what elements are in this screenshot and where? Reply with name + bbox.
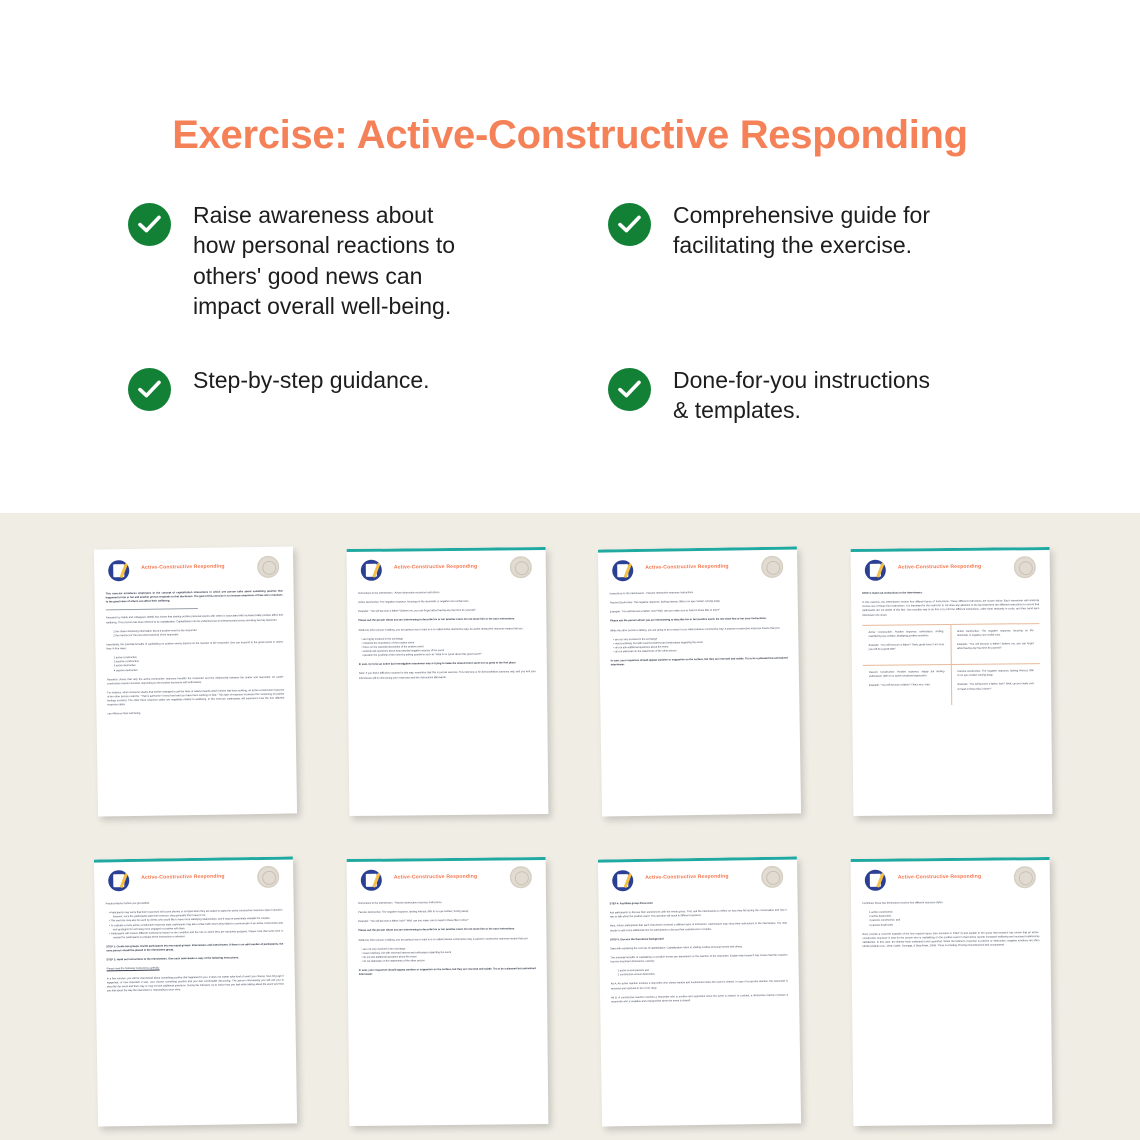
document-pencil-icon	[108, 560, 129, 581]
document-accent-bar	[851, 857, 1050, 862]
certification-seal-icon	[257, 866, 279, 888]
response-style-cell: Active Constructive: Positive response, …	[862, 625, 951, 666]
divider	[106, 608, 198, 610]
document-accent-bar	[598, 546, 797, 552]
document-brand-title: Active-Constructive Responding	[394, 874, 478, 881]
document-paragraph: STEP 3: Hand out instructions to the int…	[862, 590, 1039, 596]
response-style-example: Example: "You will become a father? Beli…	[957, 642, 1034, 651]
document-paragraph: Example: "You will become a father, huh?…	[358, 918, 535, 924]
benefit-item-comprehensive-guide: Comprehensive guide for facilitating the…	[608, 200, 1038, 365]
document-body: STEP 3: Hand out instructions to the int…	[862, 590, 1040, 705]
document-thumbnail[interactable]: Active-Constructive RespondingSTEP 4: Fa…	[598, 856, 801, 1126]
document-paragraph: Instructions to the interviewers - Passi…	[358, 900, 535, 906]
document-paragraph: Active Destructive: The negative respons…	[358, 599, 535, 605]
benefit-label: Raise awareness about how personal react…	[193, 200, 455, 321]
certification-seal-icon	[1014, 866, 1036, 888]
document-paragraph: Example: "You will become a father? Beli…	[358, 608, 535, 614]
document-pencil-icon	[108, 870, 129, 891]
document-paragraph: Importantly, the potential benefits of c…	[106, 640, 283, 651]
document-paragraph: This exercise introduces employees to th…	[106, 590, 283, 605]
document-pencil-icon	[612, 870, 633, 891]
response-style-definition: Passive Constructive: Positive response,…	[869, 670, 945, 679]
document-page-content: Active-Constructive RespondingCombined, …	[862, 866, 1042, 1120]
document-accent-bar	[347, 857, 546, 862]
hero-section: Exercise: Active-Constructive Responding…	[0, 0, 1140, 513]
document-bullet-list: are not very involved in the exchangerea…	[359, 946, 536, 964]
document-paragraph: Practical Advice before you get started:	[106, 900, 283, 907]
document-bullet-list: Participants may worry that their respon…	[106, 909, 283, 941]
certification-seal-icon	[510, 866, 532, 888]
document-body: Instructions to the interviewers - Passi…	[610, 590, 788, 668]
certification-seal-icon	[257, 556, 279, 578]
document-brand-title: Active-Constructive Responding	[645, 874, 729, 881]
benefit-label: Done-for-you instructions & templates.	[673, 365, 930, 426]
document-pencil-icon	[361, 870, 382, 891]
document-brand-title: Active-Constructive Responding	[898, 564, 982, 571]
document-brand-title: Active-Constructive Responding	[141, 874, 225, 881]
document-paragraph: Instructions to the interviewers - Passi…	[610, 590, 787, 597]
document-paragraph: Please ask the person whom you are inter…	[358, 927, 535, 933]
response-style-example: Example: "You will become a father? That…	[869, 643, 945, 652]
document-numbered-list: 1 active versus passive and2 constructiv…	[611, 967, 788, 978]
document-paragraph: Instructions to the interviewers - Activ…	[358, 590, 535, 596]
document-paragraph: STEP 1: Create two groups. Divide partic…	[106, 943, 283, 954]
response-style-cell: Passive Constructive: Positive response,…	[863, 665, 952, 705]
benefit-item-done-for-you: Done-for-you instructions & templates.	[608, 365, 1038, 426]
document-paragraph: Research shows that only the active-cons…	[107, 675, 284, 686]
benefit-label: Step-by-step guidance.	[193, 365, 430, 395]
document-paragraph: In a few minutes, you will be interviewe…	[107, 974, 284, 993]
document-body: Instructions to the interviewers - Passi…	[358, 900, 536, 977]
document-paragraph: Please ask the person whom you are inter…	[610, 617, 787, 624]
document-paragraph: While the other person is talking, you a…	[610, 626, 787, 633]
document-paragraph: Please read the following instructions c…	[107, 965, 284, 972]
document-header: Active-Constructive Responding	[609, 866, 786, 897]
document-bullet-list: are highly involved in the exchangeminim…	[359, 636, 536, 658]
response-style-definition: Active Destructive: The negative respons…	[957, 629, 1034, 638]
document-brand-title: Active-Constructive Responding	[141, 564, 225, 571]
document-accent-bar	[347, 547, 546, 552]
list-item: do not elaborate on the statements of th…	[366, 958, 536, 964]
response-style-definition: Active Constructive: Positive response, …	[868, 630, 944, 639]
document-paragraph: STEP 2: Hand out instructions to the int…	[106, 956, 283, 963]
document-thumbnail[interactable]: Active-Constructive RespondingPractical …	[94, 856, 297, 1126]
document-header: Active-Constructive Responding	[609, 556, 786, 587]
document-body: Instructions to the interviewers - Activ…	[358, 590, 536, 680]
document-paragraph: Please ask the person whom you are inter…	[358, 617, 535, 623]
document-thumbnail[interactable]: Active-Constructive RespondingCombined, …	[851, 857, 1053, 1126]
document-header: Active-Constructive Responding	[105, 866, 282, 897]
document-paragraph: In sum, try to be an active but investig…	[359, 661, 536, 667]
document-brand-title: Active-Constructive Responding	[394, 564, 478, 571]
document-accent-bar	[598, 856, 797, 862]
document-paragraph: While the other person is talking, you a…	[358, 937, 535, 943]
document-accent-bar	[94, 856, 293, 862]
document-pencil-icon	[865, 560, 886, 581]
document-paragraph: Combined, these two dimensions result in…	[862, 900, 1039, 906]
document-paragraph: The potential benefits of capitalizing o…	[610, 953, 787, 964]
document-header: Active-Constructive Responding	[105, 556, 282, 587]
document-body: Practical Advice before you get started:…	[106, 900, 284, 994]
response-styles-table: Active Constructive: Positive response, …	[862, 623, 1040, 706]
response-style-cell: Passive Destructive: The negative respon…	[951, 664, 1040, 704]
document-page-content: Active-Constructive RespondingInstructio…	[609, 556, 790, 811]
document-paragraph: Next, provide a concrete example of the …	[862, 931, 1039, 949]
list-item: question the positivity of the event by …	[366, 652, 536, 658]
response-style-definition: Passive Destructive: The negative respon…	[957, 669, 1034, 678]
document-numbered-list: 1 the sharer disclosing information abou…	[106, 627, 283, 638]
document-thumbnail[interactable]: Active-Constructive RespondingInstructio…	[347, 547, 549, 816]
document-pencil-icon	[865, 870, 886, 891]
benefit-label: Comprehensive guide for facilitating the…	[673, 200, 930, 261]
certification-seal-icon	[510, 556, 532, 578]
certification-seal-icon	[761, 866, 783, 888]
document-paragraph: Ad B: A constructive reaction involves a…	[611, 993, 788, 1004]
document-paragraph: In this exercise, the interviewers recei…	[862, 599, 1039, 617]
check-icon	[128, 368, 171, 411]
document-header: Active-Constructive Responding	[358, 556, 535, 586]
document-paragraph: Example: "You will become a father, huh?…	[610, 608, 787, 615]
benefits-list: Raise awareness about how personal react…	[128, 200, 1038, 426]
document-paragraph: In sum, your responses should appear pos…	[611, 657, 788, 668]
document-paragraph: Ask participants to discuss their experi…	[610, 909, 787, 920]
benefit-item-step-by-step: Step-by-step guidance.	[128, 365, 558, 426]
certification-seal-icon	[1014, 556, 1036, 578]
document-paragraph: STEP 4: Facilitate group discussion	[610, 900, 787, 907]
document-paragraph: Note: if you find it difficult to respon…	[359, 670, 536, 680]
document-paragraph: Ad A: An active reaction involves a resp…	[611, 980, 788, 991]
document-brand-title: Active-Constructive Responding	[898, 874, 982, 881]
document-pencil-icon	[361, 560, 382, 581]
document-paragraph: While the other person is talking, you a…	[358, 627, 535, 633]
document-gallery-section: Active-Constructive RespondingThis exerc…	[0, 513, 1140, 1140]
document-pencil-icon	[612, 560, 633, 581]
response-style-cell: Active Destructive: The negative respons…	[951, 624, 1040, 665]
document-paragraph: STEP 5: Discuss the theoretical backgrou…	[610, 935, 787, 942]
document-body: Combined, these two dimensions result in…	[862, 900, 1039, 949]
certification-seal-icon	[761, 556, 783, 578]
document-paragraph: Passive Destructive: The negative respon…	[610, 599, 787, 606]
document-paragraph: Passive Destructive: The negative respon…	[358, 909, 535, 915]
benefit-item-raise-awareness: Raise awareness about how personal react…	[128, 200, 558, 365]
check-icon	[608, 203, 651, 246]
document-numbered-list: 1 active-constructive,2 active destructi…	[862, 909, 1039, 927]
document-page-content: Active-Constructive RespondingSTEP 3: Ha…	[862, 556, 1042, 810]
document-page-content: Active-Constructive RespondingThis exerc…	[105, 556, 286, 811]
document-paragraph: For instance, when someone shares that h…	[107, 688, 284, 707]
document-page-content: Active-Constructive RespondingSTEP 4: Fa…	[609, 866, 790, 1121]
document-page-content: Active-Constructive RespondingInstructio…	[358, 556, 538, 810]
document-body: This exercise introduces employees to th…	[106, 590, 285, 717]
response-style-example: Example: "You will become a father? That…	[869, 683, 945, 688]
document-paragraph: Research by Gable and colleagues (2004) …	[106, 614, 283, 625]
document-body: STEP 4: Facilitate group discussionAsk p…	[610, 900, 789, 1005]
document-paragraph: can influence their well-being.	[107, 710, 284, 717]
document-thumbnail[interactable]: Active-Constructive RespondingInstructio…	[347, 857, 549, 1126]
document-thumbnail[interactable]: Active-Constructive RespondingInstructio…	[598, 546, 801, 816]
check-icon	[608, 368, 651, 411]
document-header: Active-Constructive Responding	[358, 866, 535, 896]
list-item: 2 constructive versus destructive.	[618, 971, 788, 978]
document-bullet-list: are not very involved in the exchangerea…	[610, 635, 787, 654]
document-paragraph: Start with explaining the concept of cap…	[610, 944, 787, 951]
document-paragraph: Next, inform participants that each inte…	[610, 922, 787, 933]
document-accent-bar	[94, 546, 293, 552]
document-accent-bar	[851, 547, 1050, 552]
document-header: Active-Constructive Responding	[862, 866, 1039, 896]
document-thumbnail[interactable]: Active-Constructive RespondingThis exerc…	[94, 546, 297, 816]
document-numbered-list: 1 active-constructive2 passive-construct…	[107, 654, 284, 673]
document-page-content: Active-Constructive RespondingInstructio…	[358, 866, 538, 1120]
page-title: Exercise: Active-Constructive Responding	[0, 113, 1140, 158]
list-item: Participants will receive different inst…	[113, 929, 283, 940]
document-thumbnail[interactable]: Active-Constructive RespondingSTEP 3: Ha…	[851, 547, 1053, 816]
check-icon	[128, 203, 171, 246]
document-thumbnail-grid: Active-Constructive RespondingThis exerc…	[96, 548, 1052, 1125]
document-page-content: Active-Constructive RespondingPractical …	[105, 866, 286, 1121]
document-paragraph: In sum, your responses should appear pos…	[359, 967, 536, 977]
document-header: Active-Constructive Responding	[862, 556, 1039, 586]
response-style-example: Example: "You will become a father, huh?…	[958, 683, 1035, 692]
document-brand-title: Active-Constructive Responding	[645, 564, 729, 571]
